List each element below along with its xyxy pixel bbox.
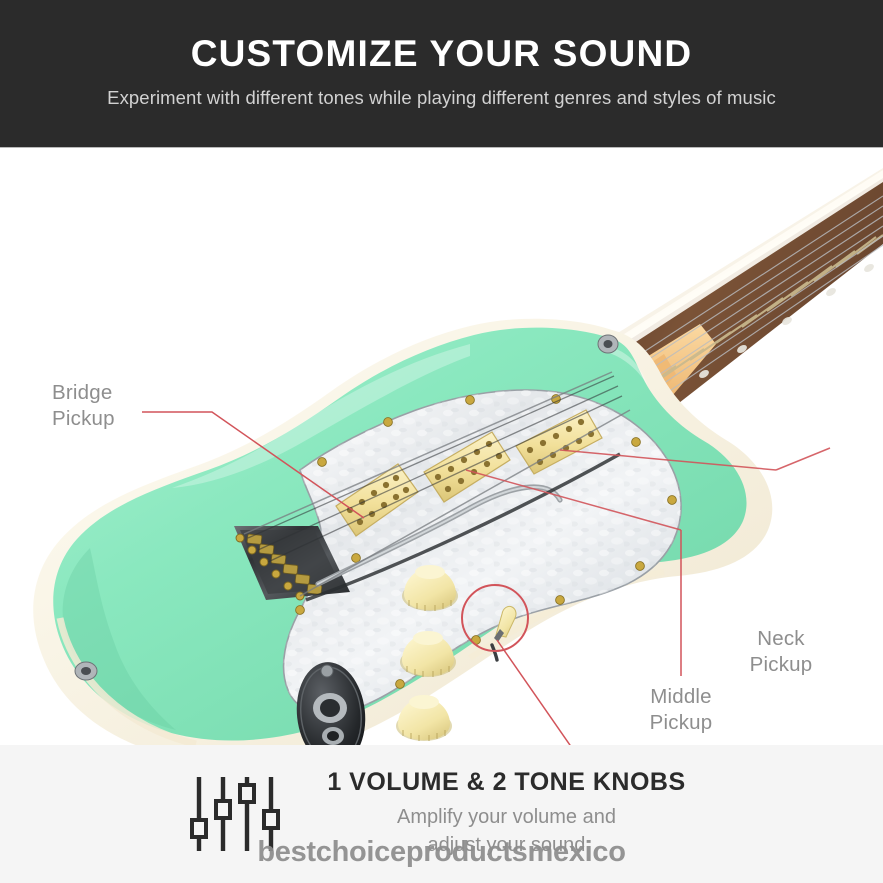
product-image-stage: Bridge Pickup Neck Pickup Middle Pickup … bbox=[0, 148, 883, 745]
strap-button-lower bbox=[75, 662, 97, 680]
header-subtitle: Experiment with different tones while pl… bbox=[107, 85, 776, 112]
header-banner: CUSTOMIZE YOUR SOUND Experiment with dif… bbox=[0, 0, 883, 148]
callout-label-middle-pickup: Middle Pickup bbox=[650, 684, 713, 736]
callout-label-bridge-pickup: Bridge Pickup bbox=[52, 380, 115, 432]
equalizer-sliders-icon bbox=[189, 773, 283, 855]
page-title: CUSTOMIZE YOUR SOUND bbox=[191, 35, 693, 74]
callout-label-neck-pickup: Neck Pickup bbox=[750, 626, 813, 678]
feature-footer-band: 1 VOLUME & 2 TONE KNOBS Amplify your vol… bbox=[0, 745, 883, 883]
leader-five-way-switch bbox=[497, 640, 597, 745]
footer-title: 1 VOLUME & 2 TONE KNOBS bbox=[327, 768, 685, 797]
strap-button-upper bbox=[598, 335, 618, 353]
footer-subtitle: Amplify your volume and adjust your soun… bbox=[397, 804, 616, 859]
